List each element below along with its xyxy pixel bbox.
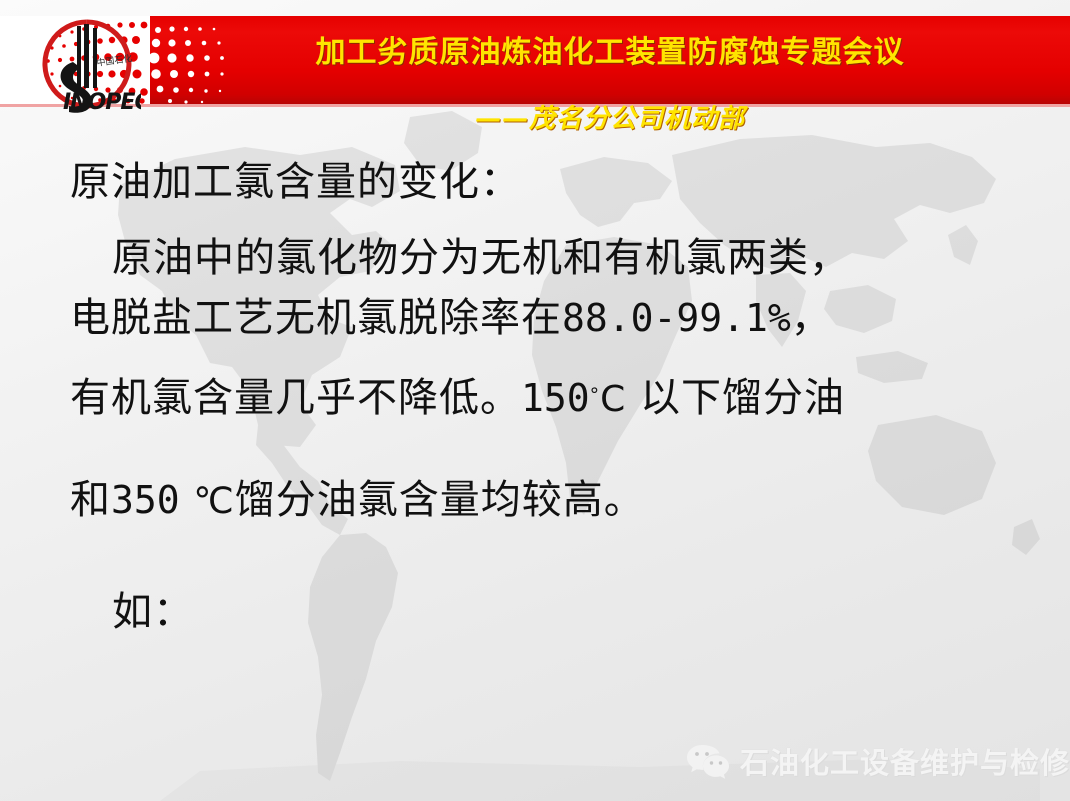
degree-symbol: ° [590,384,601,406]
body-line-3: 电脱盐工艺无机氯脱除率在88.0-99.1%， [70,298,832,338]
body-heading-text: 原油加工氯含量的变化： [70,159,521,205]
body-line-3-prefix: 电脱盐工艺无机氯脱除率在 [70,295,562,341]
body-line-5-suffix: 馏分油氯含量均较高。 [235,477,645,523]
temperature-150-value: 150 [521,376,590,420]
wechat-icon [686,742,730,780]
body-line-5: 和350 ℃馏分油氯含量均较高。 [70,480,645,520]
body-line-3-suffix: ， [791,295,832,341]
page-subtitle: ——茂名分公司机动部 [150,98,1070,135]
celsius-symbol: C [600,379,626,420]
sinopec-logo: INOPEC 中国石化 [33,16,141,116]
celsius-unit: ℃ [193,481,234,522]
body-line-6: 如： [70,592,194,632]
body-line-6-text: 如： [112,589,194,635]
footer-watermark-text: 石油化工设备维护与检修网 [740,740,1070,782]
body-line-2: 原油中的氯化物分为无机和有机氯两类， [70,238,850,278]
body-line-4-prefix: 有机氯含量几乎不降低。 [70,375,521,421]
header-banner: 加工劣质原油炼油化工装置防腐蚀专题会议 [0,16,1070,105]
body-line-4-suffix: 以下馏分油 [640,375,845,421]
page-title: 加工劣质原油炼油化工装置防腐蚀专题会议 [150,27,1070,71]
svg-text:INOPEC: INOPEC [63,90,141,115]
body-line-4: 有机氯含量几乎不降低。150°C 以下馏分油 [70,378,845,418]
body-line-5-prefix: 和 [70,477,111,523]
temperature-350-value: 350 [111,478,180,522]
footer-watermark: 石油化工设备维护与检修网 [686,740,1070,782]
body-line-2-text: 原油中的氯化物分为无机和有机氯两类， [112,235,850,281]
slide-canvas: 加工劣质原油炼油化工装置防腐蚀专题会议 ——茂名分公司机动部 INOPEC 中国… [0,0,1070,801]
inorganic-chloride-removal-rate: 88.0-99.1% [562,296,791,340]
body-heading: 原油加工氯含量的变化： [70,162,521,202]
